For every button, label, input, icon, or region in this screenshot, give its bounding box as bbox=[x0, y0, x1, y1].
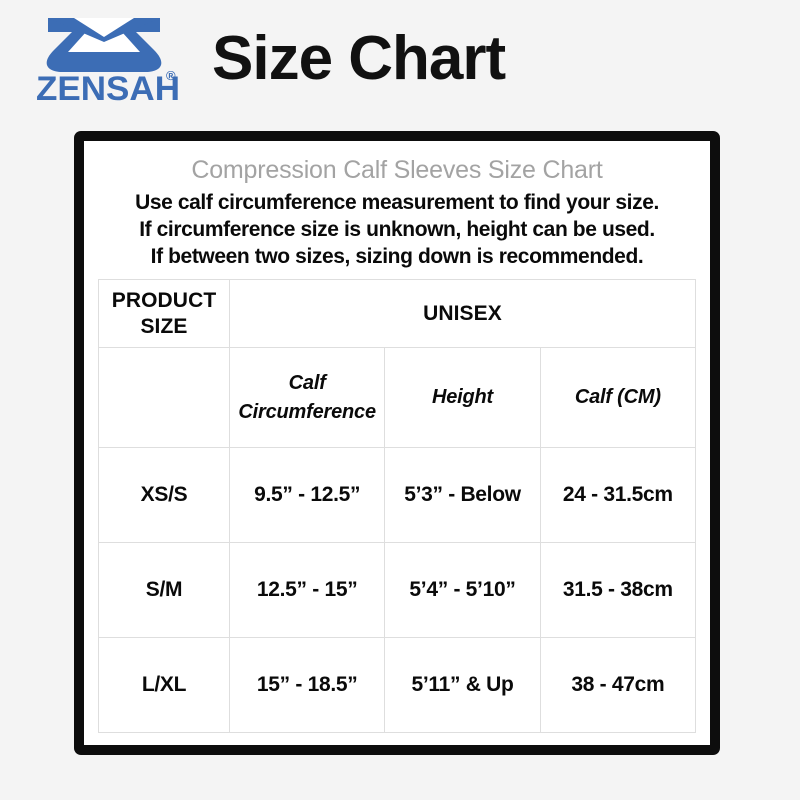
table-row: XS/S 9.5” - 12.5” 5’3” - Below 24 - 31.5… bbox=[99, 448, 696, 543]
cell-height: 5’11” & Up bbox=[385, 638, 540, 733]
instruction-line: Use calf circumference measurement to fi… bbox=[98, 189, 696, 216]
zensah-wordmark: ZENSAH bbox=[36, 72, 180, 106]
instruction-line: If between two sizes, sizing down is rec… bbox=[98, 243, 696, 270]
cell-calf-cm: 38 - 47cm bbox=[540, 638, 695, 733]
size-chart-card-inner: Compression Calf Sleeves Size Chart Use … bbox=[84, 141, 710, 745]
subheader-calf-circumference: Calf Circumference bbox=[230, 348, 385, 448]
zensah-z-logo-icon bbox=[28, 16, 180, 74]
instructions-block: Use calf circumference measurement to fi… bbox=[98, 189, 696, 270]
header-unisex: UNISEX bbox=[230, 280, 696, 348]
cell-size: L/XL bbox=[99, 638, 230, 733]
subheader-height: Height bbox=[385, 348, 540, 448]
cell-size: S/M bbox=[99, 543, 230, 638]
subheader-calf-line2: Circumference bbox=[232, 398, 382, 427]
cell-height: 5’4” - 5’10” bbox=[385, 543, 540, 638]
cell-calf-circumference: 9.5” - 12.5” bbox=[230, 448, 385, 543]
header-product-size-line2: SIZE bbox=[101, 314, 227, 340]
subheader-calf-cm: Calf (CM) bbox=[540, 348, 695, 448]
table-row: S/M 12.5” - 15” 5’4” - 5’10” 31.5 - 38cm bbox=[99, 543, 696, 638]
cell-calf-cm: 24 - 31.5cm bbox=[540, 448, 695, 543]
header-product-size-line1: PRODUCT bbox=[101, 288, 227, 314]
chart-subtitle: Compression Calf Sleeves Size Chart bbox=[98, 153, 696, 187]
cell-calf-circumference: 12.5” - 15” bbox=[230, 543, 385, 638]
table-subheader-row: Calf Circumference Height Calf (CM) bbox=[99, 348, 696, 448]
header-product-size: PRODUCT SIZE bbox=[99, 280, 230, 348]
cell-calf-circumference: 15” - 18.5” bbox=[230, 638, 385, 733]
subheader-calf-line1: Calf bbox=[232, 369, 382, 398]
instruction-line: If circumference size is unknown, height… bbox=[98, 216, 696, 243]
cell-height: 5’3” - Below bbox=[385, 448, 540, 543]
registered-trademark-icon: ® bbox=[166, 68, 176, 83]
table-row: L/XL 15” - 18.5” 5’11” & Up 38 - 47cm bbox=[99, 638, 696, 733]
cell-calf-cm: 31.5 - 38cm bbox=[540, 543, 695, 638]
size-chart-table: PRODUCT SIZE UNISEX Calf Circumference H… bbox=[98, 279, 696, 733]
cell-size: XS/S bbox=[99, 448, 230, 543]
table-header-row: PRODUCT SIZE UNISEX bbox=[99, 280, 696, 348]
page-header: ZENSAH ® Size Chart bbox=[0, 0, 800, 128]
zensah-logo: ZENSAH ® bbox=[28, 16, 188, 112]
size-chart-card: Compression Calf Sleeves Size Chart Use … bbox=[74, 131, 720, 755]
page-title: Size Chart bbox=[212, 18, 505, 100]
subheader-blank bbox=[99, 348, 230, 448]
